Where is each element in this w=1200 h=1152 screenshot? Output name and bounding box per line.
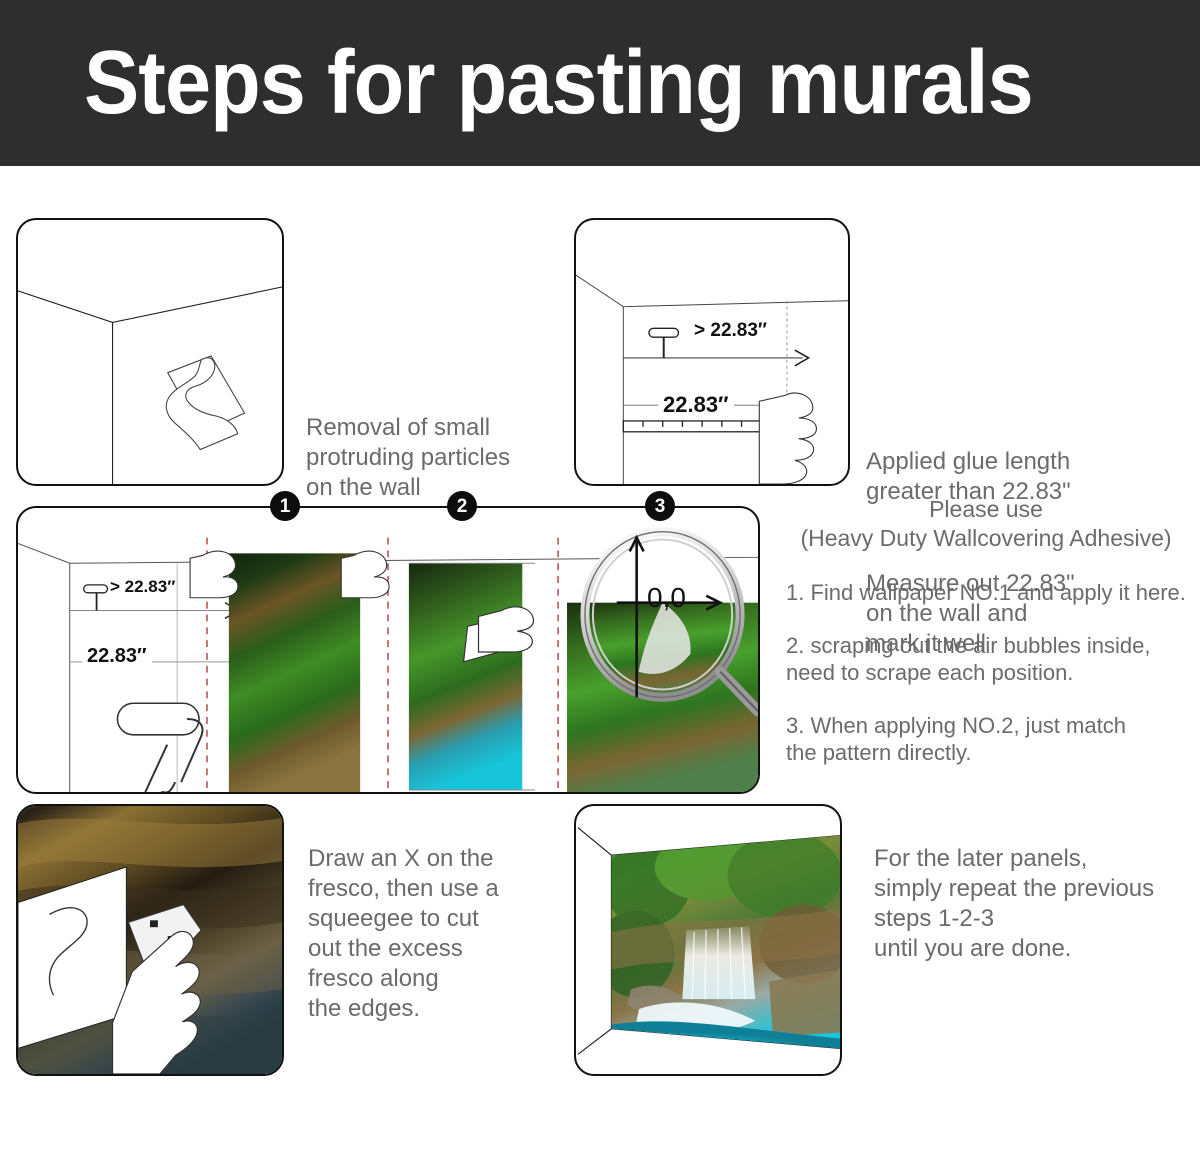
instruction-item-1: 1. Find wallpaper NO.1 and apply it here…	[786, 579, 1186, 606]
panel-wall-prep	[16, 218, 284, 486]
label-origin: 0,0	[647, 582, 686, 614]
wall-measure-icon	[576, 220, 848, 484]
instruction-item-2: 2. scraping out the air bubbles inside, …	[786, 632, 1186, 686]
step-badge-3: 3	[645, 491, 675, 521]
trim-excess-illustration	[18, 806, 282, 1074]
row-preparation: Removal of small protruding particles on…	[0, 166, 1200, 484]
paint-roller-icon	[649, 328, 679, 358]
instructions-block: Please use (Heavy Duty Wallcovering Adhe…	[786, 495, 1186, 766]
page-title: Steps for pasting murals	[84, 38, 1033, 128]
wall-corner-icon	[18, 220, 282, 484]
row-finish: Draw an X on the fresco, then use a sque…	[0, 794, 1200, 1152]
panel-apply-strips: > 22.83″ 22.83″ 0,0	[16, 506, 760, 794]
paint-roller-small-icon	[84, 585, 108, 611]
label-tape-length: 22.83″	[658, 392, 734, 418]
instruction-item-3: 3. When applying NO.2, just match the pa…	[786, 712, 1186, 766]
finished-wall-illustration	[576, 806, 840, 1074]
waterfall-mural-icon	[596, 830, 840, 1055]
hand-scraper-icon	[166, 356, 244, 450]
caption-trim-excess: Draw an X on the fresco, then use a sque…	[308, 844, 499, 1024]
row-apply-strips: > 22.83″ 22.83″ 0,0 1 2 3 Please use (He…	[0, 484, 1200, 794]
panel-glue-measure: > 22.83″ 22.83″	[574, 218, 850, 486]
wallpaper-strip-1	[229, 553, 360, 792]
panel-trim-excess	[16, 804, 284, 1076]
paint-roller-icon	[117, 703, 202, 792]
label-glue-length: > 22.83″	[694, 320, 767, 342]
panel-finished	[574, 804, 842, 1076]
page-header: Steps for pasting murals	[0, 0, 1200, 166]
label-tape-length-strips: 22.83″	[82, 645, 152, 668]
step-badge-2: 2	[447, 491, 477, 521]
wallpaper-strip-2	[409, 563, 522, 790]
hand-icon	[759, 393, 816, 484]
caption-finished: For the later panels, simply repeat the …	[874, 844, 1154, 964]
label-glue-length-strips: > 22.83″	[110, 577, 175, 597]
step-badge-1: 1	[270, 491, 300, 521]
instructions-heading: Please use (Heavy Duty Wallcovering Adhe…	[786, 495, 1186, 553]
